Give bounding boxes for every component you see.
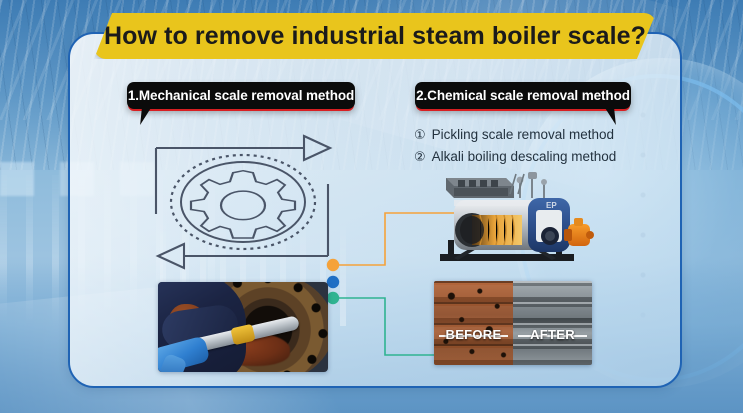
callout-mechanical-label: 1.Mechanical scale removal method: [128, 88, 354, 103]
callout-tail: [594, 108, 616, 125]
boiler-control-hood: [446, 178, 514, 198]
dashed-orbit: [171, 155, 315, 249]
boiler-top-valves: [520, 178, 544, 198]
callout-chemical-label: 2.Chemical scale removal method: [416, 88, 630, 103]
page-title: How to remove industrial steam boiler sc…: [104, 22, 646, 51]
gear-outer-ring: [181, 162, 305, 242]
boiler-illustration[interactable]: EP: [424, 168, 596, 272]
circled-number-1-icon: ①: [414, 124, 426, 146]
arrow-left-icon: [158, 244, 184, 268]
title-banner: How to remove industrial steam boiler sc…: [94, 13, 656, 59]
boiler-brand-mark: EP: [546, 201, 557, 210]
list-item-label: Alkali boiling descaling method: [432, 146, 617, 168]
after-half: AFTER: [513, 281, 592, 365]
before-scale-spots: [434, 281, 513, 365]
arrow-right-icon: [304, 136, 330, 160]
list-item-label: Pickling scale removal method: [432, 124, 614, 146]
circled-number-2-icon: ②: [414, 146, 426, 168]
gear-hub: [221, 191, 265, 220]
valve-block: [528, 172, 537, 179]
valve-handwheel-2: [541, 179, 547, 185]
mechanical-cleaning-photo[interactable]: [158, 282, 328, 372]
mechanical-gear-diagram: [150, 128, 340, 278]
before-label: BEFORE: [434, 327, 513, 342]
infographic-canvas: EP: [0, 0, 743, 413]
after-label: AFTER: [513, 327, 592, 342]
before-half: BEFORE: [434, 281, 513, 365]
callout-mechanical[interactable]: 1.Mechanical scale removal method: [127, 82, 355, 109]
list-item: ② Alkali boiling descaling method: [414, 146, 649, 168]
list-item: ① Pickling scale removal method: [414, 124, 649, 146]
callout-tail: [140, 108, 162, 125]
before-after-photo[interactable]: BEFORE AFTER: [434, 281, 592, 365]
callout-chemical[interactable]: 2.Chemical scale removal method: [415, 82, 631, 109]
chemical-method-list: ① Pickling scale removal method ② Alkali…: [414, 124, 649, 168]
gear-icon: [191, 171, 295, 238]
